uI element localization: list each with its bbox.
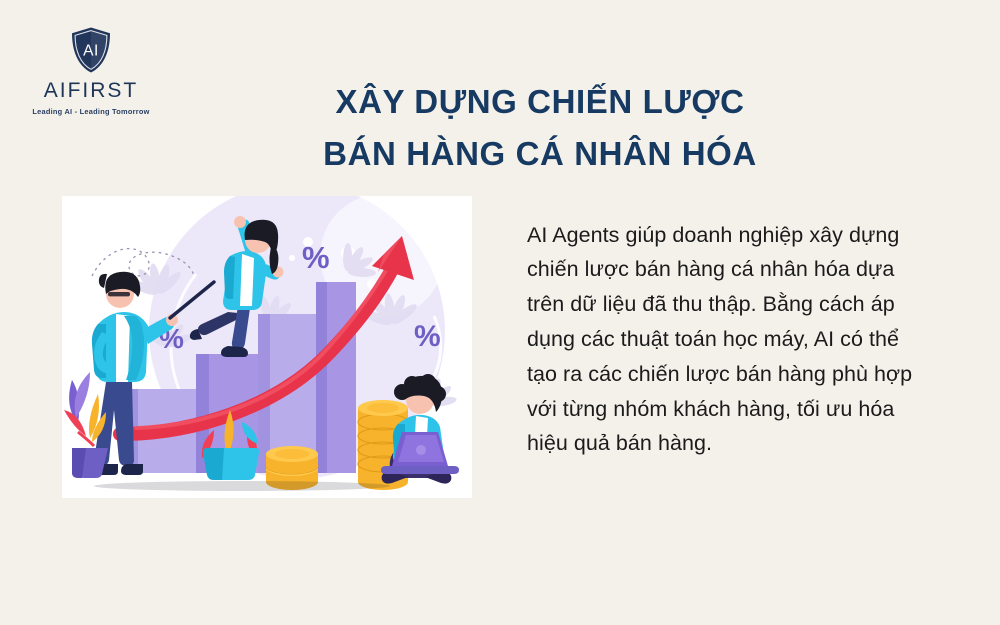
body-paragraph: AI Agents giúp doanh nghiệp xây dựng chi… [527, 218, 927, 462]
page-title-line-2: BÁN HÀNG CÁ NHÂN HÓA [230, 128, 850, 179]
brand-logo[interactable]: AI AIFIRST Leading AI - Leading Tomorrow [22, 26, 160, 115]
growth-illustration: % % % [62, 196, 472, 498]
shield-label: AI [83, 43, 99, 60]
percent-symbol: % [302, 240, 330, 275]
brand-wordmark: AIFIRST [22, 80, 160, 101]
page-title-line-1: XÂY DỰNG CHIẾN LƯỢC [230, 76, 850, 127]
brand-tagline: Leading AI - Leading Tomorrow [22, 108, 160, 115]
page-title: XÂY DỰNG CHIẾN LƯỢC BÁN HÀNG CÁ NHÂN HÓA [230, 76, 850, 179]
illustration-card: % % % [62, 196, 472, 498]
shield-icon: AI [22, 26, 160, 74]
ground-shadow [94, 481, 390, 491]
slide-canvas: AI AIFIRST Leading AI - Leading Tomorrow… [0, 0, 1000, 625]
percent-symbol: % [414, 320, 441, 353]
